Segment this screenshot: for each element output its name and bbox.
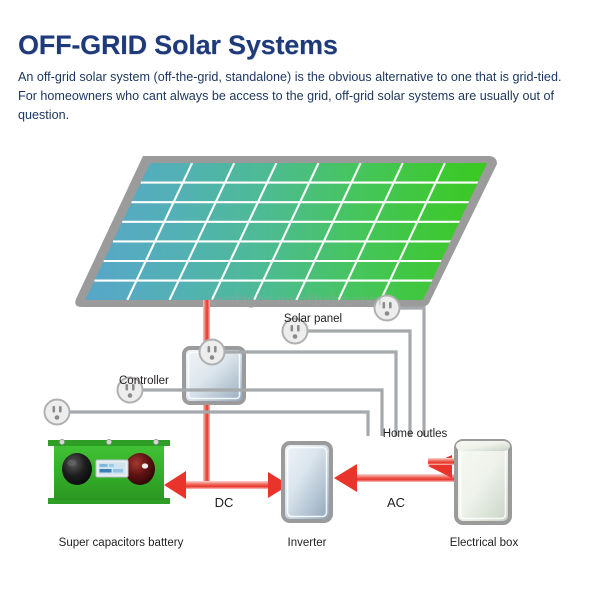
inverter[interactable] <box>283 443 331 521</box>
solar-panel-cells <box>85 163 487 300</box>
inverter-label: Inverter <box>288 537 327 550</box>
intro-paragraph: An off-grid solar system (off-the-grid, … <box>18 68 583 125</box>
dc-arrow-to-battery <box>164 471 186 499</box>
electrical-box-body <box>456 441 510 523</box>
controller-label: Controller <box>119 375 169 388</box>
solar-panel-label: Solar panel <box>284 313 342 326</box>
outlet-1[interactable] <box>45 400 70 425</box>
page-title: OFF-GRID Solar Systems <box>18 30 588 60</box>
controller-to-dc-line <box>203 402 210 484</box>
home-outlets[interactable] <box>45 296 400 425</box>
home-outlets-label: Home outles <box>383 428 448 441</box>
ac-bar <box>348 474 458 482</box>
ac-flow-label: AC <box>387 495 405 510</box>
inverter-body <box>283 443 331 521</box>
page-header: OFF-GRID Solar Systems An off-grid solar… <box>18 30 588 125</box>
electrical-box[interactable] <box>456 441 510 523</box>
battery-display <box>96 460 128 477</box>
outlet-3[interactable] <box>200 340 225 365</box>
electrical-box-label: Electrical box <box>450 537 518 550</box>
battery-negative-terminal <box>62 453 92 485</box>
super-capacitors-battery[interactable] <box>48 439 170 504</box>
dc-flow-label: DC <box>215 495 234 510</box>
ac-arrow-to-inverter <box>334 464 357 492</box>
ac-bar-upper <box>428 458 456 465</box>
solar-panel[interactable] <box>75 156 497 307</box>
electrical-box-top-patch <box>456 441 510 451</box>
off-grid-system-diagram: Solar panel worldgho.en.alibaba.com Cont… <box>0 140 600 600</box>
battery-positive-terminal <box>125 453 155 485</box>
diagram-canvas <box>0 140 600 600</box>
dc-bar <box>185 481 277 489</box>
watermark-text: worldgho.en.alibaba.com <box>210 292 381 309</box>
ac-flow-arrows <box>334 455 458 492</box>
battery-label: Super capacitors battery <box>59 537 184 550</box>
